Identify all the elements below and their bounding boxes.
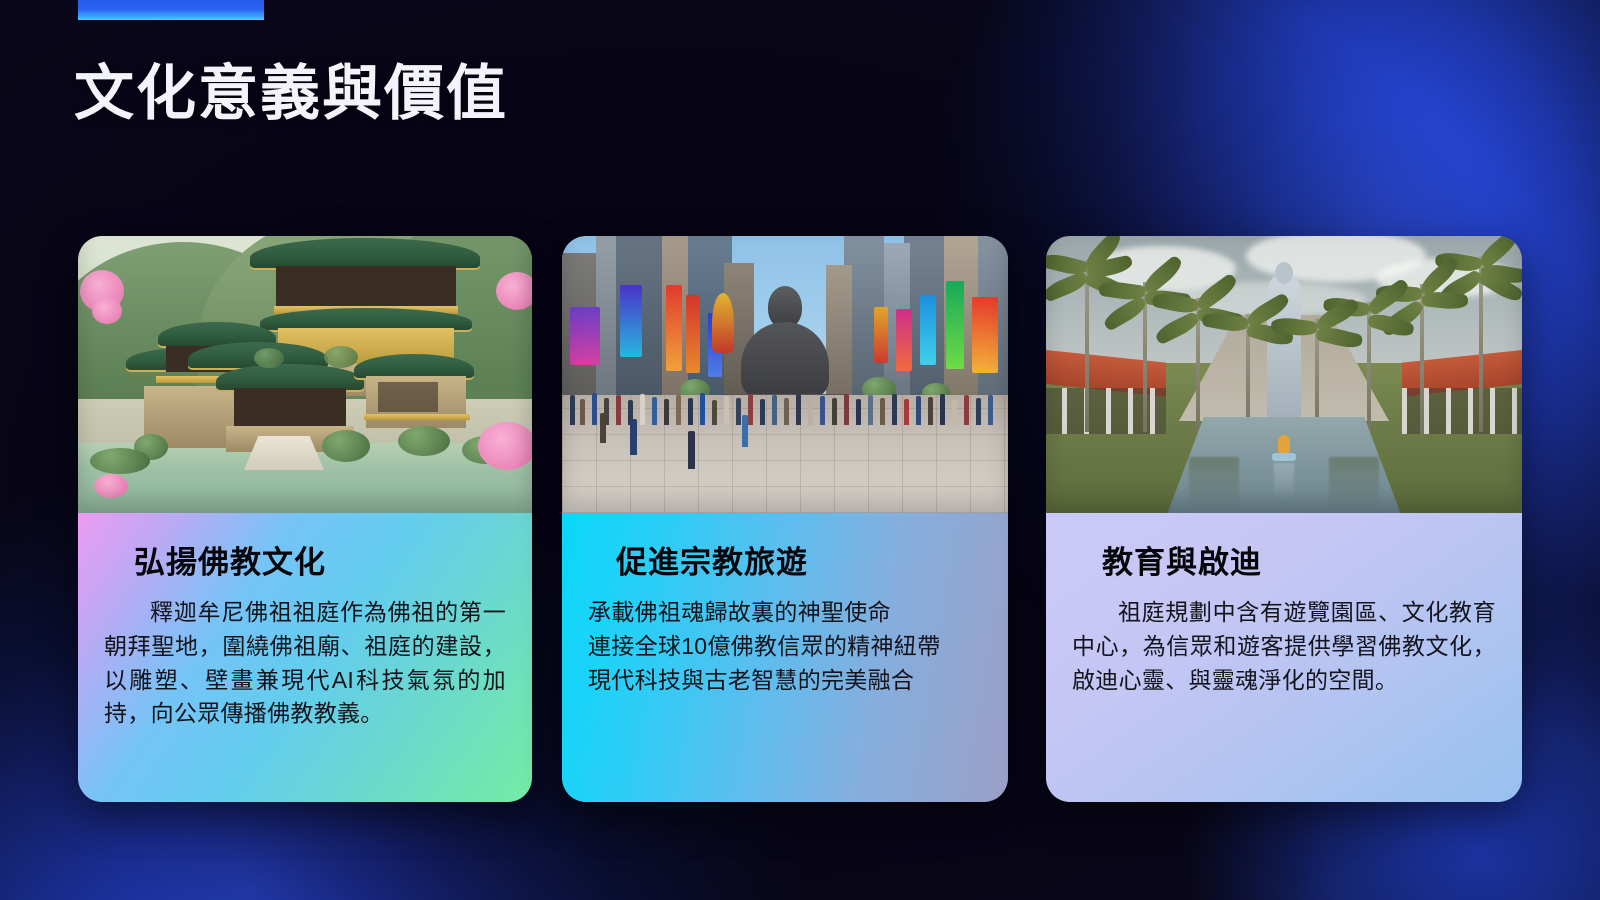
card-body-text: 承載佛祖魂歸故裏的神聖使命 連接全球10億佛教信眾的精神紐帶 現代科技與古老智慧… [588,596,982,697]
card-title: 弘揚佛教文化 [104,537,506,582]
card-title: 促進宗教旅遊 [588,537,982,582]
card-grid: 弘揚佛教文化 釋迦牟尼佛祖祖庭作為佛祖的第一朝拜聖地，圍繞佛祖廟、祖庭的建設，以… [0,0,1600,900]
card-body-text: 祖庭規劃中含有遊覽園區、文化教育中心，為信眾和遊客提供學習佛教文化，啟迪心靈、與… [1072,596,1496,697]
card-image-guanyin-temple [1046,236,1522,513]
card-image-city-buddha [562,236,1008,513]
card-body-line: 現代科技與古老智慧的完美融合 [588,664,982,698]
card-title: 教育與啟迪 [1072,537,1496,582]
card-body-line: 連接全球10億佛教信眾的精神紐帶 [588,630,982,664]
card-promote-buddhist-culture[interactable]: 弘揚佛教文化 釋迦牟尼佛祖祖庭作為佛祖的第一朝拜聖地，圍繞佛祖廟、祖庭的建設，以… [78,236,532,802]
card-body-line: 承載佛祖魂歸故裏的神聖使命 [588,596,982,630]
card-promote-religious-tourism[interactable]: 促進宗教旅遊 承載佛祖魂歸故裏的神聖使命 連接全球10億佛教信眾的精神紐帶 現代… [562,236,1008,802]
card-education-and-enlightenment[interactable]: 教育與啟迪 祖庭規劃中含有遊覽園區、文化教育中心，為信眾和遊客提供學習佛教文化，… [1046,236,1522,802]
card-image-temple-complex [78,236,532,513]
card-body-text: 釋迦牟尼佛祖祖庭作為佛祖的第一朝拜聖地，圍繞佛祖廟、祖庭的建設，以雕塑、壁畫兼現… [104,596,506,731]
